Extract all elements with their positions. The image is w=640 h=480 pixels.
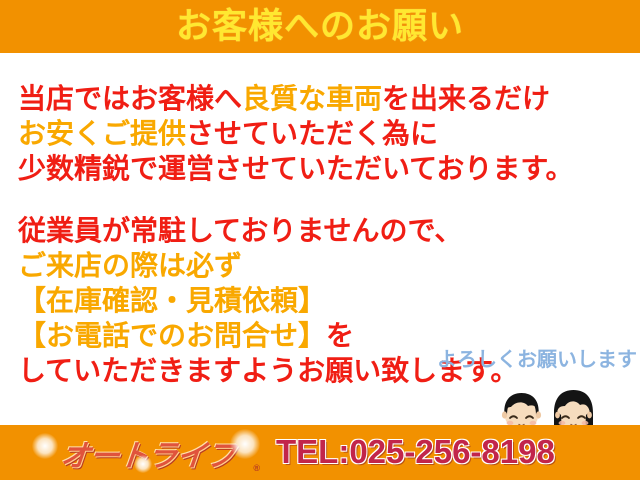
phone-number[interactable]: TEL:025-256-8198 <box>276 435 555 468</box>
paragraph-1-line-3: 少数精鋭で運営させていただいております。 <box>18 151 574 186</box>
text-segment-highlight: 良質な車両 <box>242 83 382 114</box>
text-segment-highlight: ご来店の際は必ず <box>18 250 242 281</box>
header-bar: お客様へのお願い <box>0 0 640 53</box>
text-segment: 少数精鋭で運営させていただいております。 <box>18 153 574 184</box>
text-segment-highlight: 【在庫確認・見積依頼】 <box>18 285 326 316</box>
customer-notice-banner: お客様へのお願い 当店ではお客様へ良質な車両を出来るだけ お安くご提供させていた… <box>0 0 640 480</box>
text-segment: させていただく為に <box>186 118 438 149</box>
text-segment-highlight: 【お電話でのお問合せ】 <box>18 320 326 351</box>
registered-trademark-icon: ® <box>253 463 260 473</box>
paragraph-2-line-2: ご来店の際は必ず <box>18 248 518 283</box>
paragraph-2-line-4: 【お電話でのお問合せ】を <box>18 318 518 353</box>
paragraph-1-line-1: 当店ではお客様へ良質な車両を出来るだけ <box>18 81 574 116</box>
paragraph-2-line-3: 【在庫確認・見積依頼】 <box>18 283 518 318</box>
paragraph-1-line-2: お安くご提供させていただく為に <box>18 116 574 151</box>
text-segment: 当店ではお客様へ <box>18 83 242 114</box>
text-segment-highlight: お安くご提供 <box>18 118 186 149</box>
greeting-text: よろしくお願いします <box>437 350 637 370</box>
text-segment: を出来るだけ <box>382 83 550 114</box>
dealer-logo-text: オートライフ <box>32 431 265 475</box>
body-area: 当店ではお客様へ良質な車両を出来るだけ お安くご提供させていただく為に 少数精鋭… <box>0 53 640 425</box>
dealer-logo: オートライフ ® <box>34 431 262 475</box>
footer-bar: オートライフ ® TEL:025-256-8198 <box>0 425 640 480</box>
notice-paragraph-1: 当店ではお客様へ良質な車両を出来るだけ お安くご提供させていただく為に 少数精鋭… <box>18 81 574 186</box>
page-title: お客様へのお願い <box>176 9 464 44</box>
text-segment: を <box>326 320 354 351</box>
paragraph-2-line-1: 従業員が常駐しておりませんので、 <box>18 213 518 248</box>
text-segment: 従業員が常駐しておりませんので、 <box>18 215 462 246</box>
